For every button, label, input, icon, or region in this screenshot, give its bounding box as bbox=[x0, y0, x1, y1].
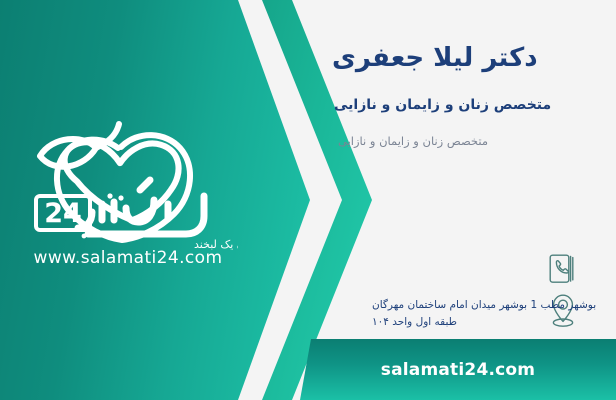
doctor-profile-card: 24 براحتی یک لبخند www.salamati24.com دک… bbox=[0, 0, 616, 400]
footer-banner: salamati24.com bbox=[300, 339, 616, 400]
phonebook-icon[interactable] bbox=[548, 253, 576, 285]
apple-outline-icon: 24 براحتی یک لبخند bbox=[18, 112, 238, 252]
brand-logo: 24 براحتی یک لبخند www.salamati24.com bbox=[18, 112, 238, 277]
clinic-address: بوشهر مطب 1 بوشهر میدان امام ساختمان مهر… bbox=[372, 297, 602, 331]
doctor-name: دکتر لیلا جعفری bbox=[310, 42, 600, 75]
svg-text:24: 24 bbox=[44, 198, 82, 229]
doctor-specialty: متخصص زنان و زایمان و نازایی bbox=[310, 96, 600, 116]
footer-website[interactable]: salamati24.com bbox=[300, 339, 616, 400]
doctor-specialty-secondary: متخصص زنان و زایمان و نازایی bbox=[310, 133, 600, 149]
logo-website-url: www.salamati24.com bbox=[18, 248, 238, 268]
